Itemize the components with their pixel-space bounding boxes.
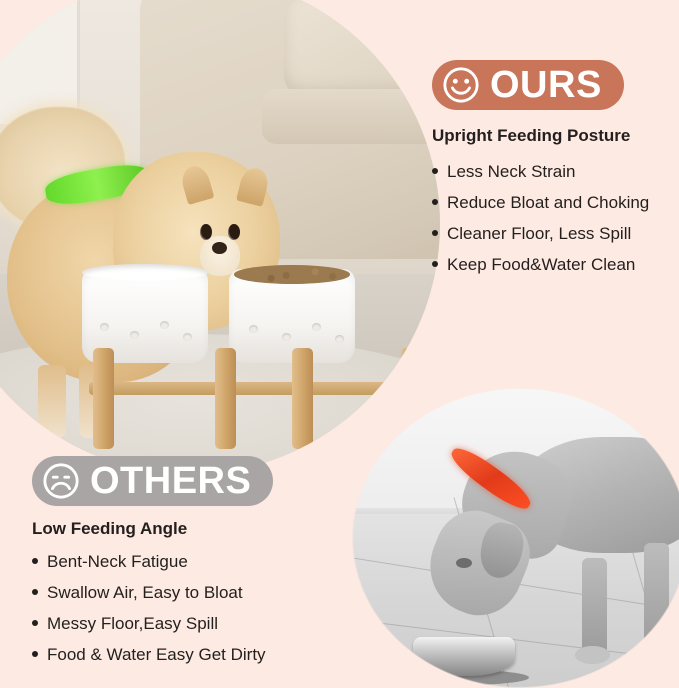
list-item-label: Bent-Neck Fatigue: [47, 553, 188, 570]
list-item-label: Cleaner Floor, Less Spill: [447, 225, 631, 242]
dog-rear-leg: [644, 543, 669, 659]
list-item-label: Swallow Air, Easy to Bloat: [47, 584, 243, 601]
paw-emboss-icon: [335, 335, 344, 343]
grey-dog-eating-from-floor-bowl-photo: [352, 388, 679, 688]
dog-paw: [575, 646, 609, 664]
smiley-face-icon: [442, 66, 480, 104]
ours-benefit-list: Less Neck Strain Reduce Bloat and Chokin…: [432, 163, 672, 273]
paw-emboss-icon: [100, 323, 109, 331]
kibble-food: [234, 265, 350, 284]
dog-eye: [456, 558, 472, 568]
dog-neck: [450, 438, 582, 567]
others-panel: OTHERS Low Feeding Angle Bent-Neck Fatig…: [32, 456, 352, 677]
sad-face-icon: [42, 462, 80, 500]
dog-eye-left: [200, 224, 212, 240]
bullet-dot-icon: [32, 651, 38, 657]
others-badge: OTHERS: [32, 456, 273, 506]
dog-nose: [212, 242, 227, 255]
others-subtitle: Low Feeding Angle: [32, 519, 352, 539]
tile-wall: [352, 388, 679, 514]
ours-badge: OURS: [432, 60, 624, 110]
ours-subtitle: Upright Feeding Posture: [432, 126, 672, 146]
list-item: Swallow Air, Easy to Bloat: [32, 584, 352, 601]
ours-panel: OURS Upright Feeding Posture Less Neck S…: [432, 60, 672, 287]
stand-leg: [215, 348, 236, 449]
dog-ear-right: [236, 165, 271, 206]
bullet-dot-icon: [432, 199, 438, 205]
list-item-label: Reduce Bloat and Choking: [447, 194, 649, 211]
list-item: Keep Food&Water Clean: [432, 256, 672, 273]
dog-front-leg: [582, 558, 607, 659]
dog-body: [519, 437, 679, 553]
tile-floor: [352, 514, 679, 688]
dog-eye-right: [228, 224, 240, 240]
baseboard: [352, 508, 679, 523]
bowl-rim: [82, 264, 208, 281]
tile-grout-line: [617, 497, 679, 688]
paw-emboss-icon: [130, 331, 139, 339]
list-item-label: Food & Water Easy Get Dirty: [47, 646, 266, 663]
list-item: Reduce Bloat and Choking: [432, 194, 672, 211]
paw-emboss-icon: [312, 323, 321, 331]
tile-grout-line: [454, 497, 596, 688]
bowl-base: [400, 670, 529, 685]
others-badge-label: OTHERS: [90, 462, 251, 500]
wall-panel: [0, 0, 80, 124]
ours-badge-label: OURS: [490, 66, 602, 104]
tile-grout-line: [352, 615, 679, 678]
stand-leg: [93, 348, 114, 449]
paw-emboss-icon: [160, 321, 169, 329]
list-item: Messy Floor,Easy Spill: [32, 615, 352, 632]
paw-emboss-icon: [282, 333, 291, 341]
bullet-dot-icon: [32, 558, 38, 564]
bullet-dot-icon: [432, 261, 438, 267]
bullet-dot-icon: [32, 589, 38, 595]
food-bowl: [229, 269, 355, 363]
list-item-label: Keep Food&Water Clean: [447, 256, 635, 273]
stainless-floor-bowl: [413, 637, 515, 676]
bullet-dot-icon: [432, 168, 438, 174]
dog-front-leg: [38, 365, 66, 438]
grey-dog: [406, 412, 679, 664]
bullet-dot-icon: [32, 620, 38, 626]
dog-head: [416, 499, 541, 628]
stand-leg: [292, 348, 313, 449]
list-item-label: Messy Floor,Easy Spill: [47, 615, 218, 632]
list-item-label: Less Neck Strain: [447, 163, 576, 180]
tile-grout-line: [352, 552, 679, 633]
dog-ear-left: [179, 163, 215, 205]
others-drawback-list: Bent-Neck Fatigue Swallow Air, Easy to B…: [32, 553, 352, 663]
list-item: Cleaner Floor, Less Spill: [432, 225, 672, 242]
dog-ear: [476, 519, 527, 582]
paw-emboss-icon: [249, 325, 258, 333]
list-item: Bent-Neck Fatigue: [32, 553, 352, 570]
list-item: Food & Water Easy Get Dirty: [32, 646, 352, 663]
list-item: Less Neck Strain: [432, 163, 672, 180]
infographic-canvas: OURS Upright Feeding Posture Less Neck S…: [0, 0, 679, 679]
paw-emboss-icon: [183, 333, 192, 341]
bullet-dot-icon: [432, 230, 438, 236]
dog-paw: [638, 646, 672, 664]
red-spine-highlight-icon: [446, 442, 535, 515]
